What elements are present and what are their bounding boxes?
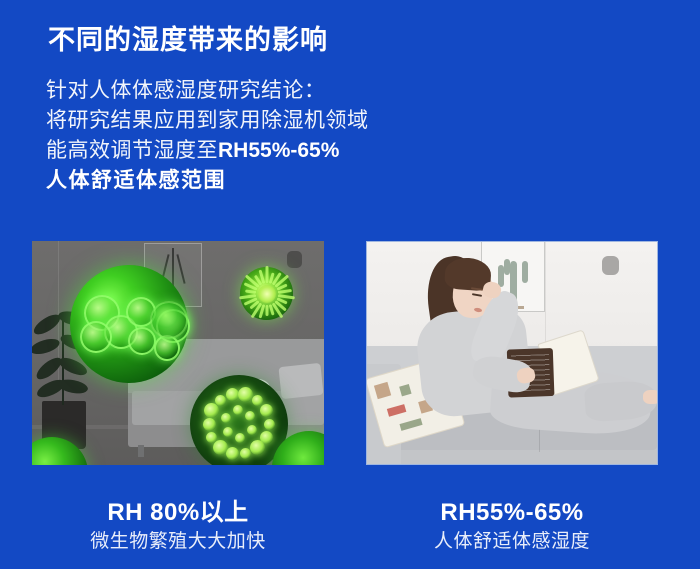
virus-core: [258, 285, 276, 303]
caption-left-sub: 微生物繁殖大大加快: [32, 528, 324, 556]
bright-room-scene: [367, 242, 657, 464]
virus-knob: [247, 425, 257, 435]
panel-comfort-humidity-image: [366, 241, 658, 465]
body-copy-block: 针对人体体感湿度研究结论： 将研究结果应用到家用除湿机领域 能高效调节湿度至RH…: [46, 76, 369, 196]
sofa-cushion: [278, 363, 323, 399]
dim-room-scene: [32, 241, 324, 465]
virus-knob: [206, 432, 217, 443]
humidity-range-value: RH55%-65%: [218, 139, 339, 162]
virus-knob: [245, 411, 255, 421]
humidity-comparison-poster: 不同的湿度带来的影响 针对人体体感湿度研究结论： 将研究结果应用到家用除湿机领域…: [0, 0, 700, 569]
panel-high-humidity-image: [32, 241, 324, 465]
wall-speaker-icon: [287, 251, 302, 268]
virus-knob: [223, 427, 233, 437]
body-line-3-prefix: 能高效调节湿度至: [46, 139, 218, 162]
microbe-cell: [80, 321, 112, 353]
virus-spike: [265, 266, 268, 283]
virus-knob: [260, 404, 273, 417]
body-line-3: 能高效调节湿度至RH55%-65%: [46, 136, 369, 166]
caption-left-main: RH 80%以上: [32, 498, 324, 528]
virus-knob: [204, 403, 219, 418]
plant-leaf: [32, 337, 61, 356]
virus-knob: [240, 448, 251, 459]
microbe-cell: [128, 327, 156, 355]
virus-knob: [250, 440, 265, 455]
caption-right-main: RH55%-65%: [366, 498, 658, 528]
virus-dark-icon: [190, 375, 288, 465]
page-title: 不同的湿度带来的影响: [48, 18, 328, 57]
body-line-2: 将研究结果应用到家用除湿机领域: [46, 106, 369, 136]
virus-knob: [213, 440, 228, 455]
foot: [643, 390, 658, 404]
virus-knob: [238, 387, 253, 402]
virus-knob: [215, 395, 226, 406]
microbe-cell-small-icon: [150, 301, 188, 339]
virus-knob: [264, 419, 275, 430]
caption-right-sub: 人体舒适体感湿度: [366, 528, 658, 556]
body-line-1: 针对人体体感湿度研究结论：: [46, 76, 369, 106]
caption-comfort-humidity: RH55%-65% 人体舒适体感湿度: [366, 498, 658, 556]
virus-spiky-icon: [240, 267, 293, 320]
woman-reading-figure: [367, 242, 657, 464]
virus-knob: [233, 405, 243, 415]
virus-knob: [221, 413, 231, 423]
sofa-leg-left: [138, 445, 144, 457]
virus-knob: [226, 388, 239, 401]
virus-knob: [203, 418, 216, 431]
virus-knob: [235, 433, 245, 443]
caption-high-humidity: RH 80%以上 微生物繁殖大大加快: [32, 498, 324, 556]
virus-spike: [265, 305, 268, 316]
body-line-4: 人体舒适体感范围: [46, 166, 369, 196]
